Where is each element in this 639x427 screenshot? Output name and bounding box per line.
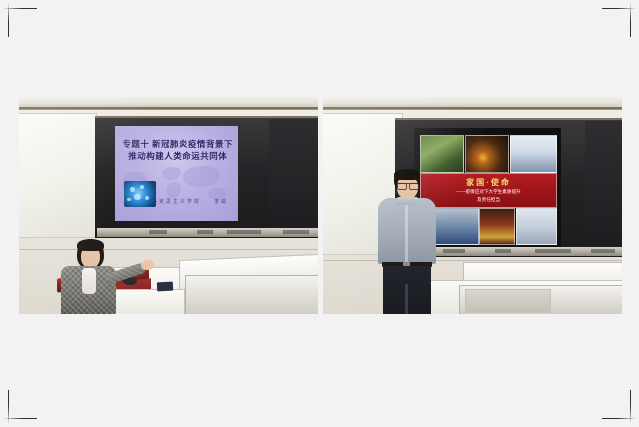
screenshot-canvas: 专题十 新冠肺炎疫情背景下 推动构建人类命运共同体 马克思主义学院 李娟 [0,0,639,427]
lecturer-hair-fringe [394,169,420,180]
slide-byline: 马克思主义学院 李娟 [152,198,228,205]
slide-title-line-1: 专题十 新冠肺炎疫情背景下 [122,139,233,150]
shirt-placket [405,202,408,262]
glasses-right-lens [409,183,419,190]
crop-mark-top-left-horizontal [3,8,37,9]
crop-mark-bottom-left-horizontal [3,418,37,419]
whiteboard [19,113,97,238]
crop-mark-top-right-horizontal [602,8,636,9]
crop-mark-top-left-vertical [8,3,9,37]
podium-drawer [465,289,551,313]
shirt-collar [397,197,418,205]
slide-red-banner: 家国·使命 ——疫情应对下大学生素质提升 及责任担当 [420,173,557,207]
slide-title: 专题十 新冠肺炎疫情背景下 推动构建人类命运共同体 [122,139,233,162]
projection-screen: 专题十 新冠肺炎疫情背景下 推动构建人类命运共同体 马克思主义学院 李娟 [115,126,238,221]
crop-mark-top-right-vertical [630,3,631,37]
smartphone-on-desk [157,282,173,292]
display-lower-rail [97,228,318,237]
slide-title-line-2: 推动构建人类命运共同体 [122,151,233,162]
female-lecturer [55,240,141,314]
collage-cell-medical-workers [510,135,557,172]
display-housing-side-panel [269,119,318,233]
crop-mark-bottom-left-vertical [8,390,9,424]
banner-subtitle-line-2: 及责任担当 [477,197,500,204]
collage-cell-hospital [516,208,557,244]
collage-cell-emergency-vehicle [479,208,515,244]
right-photo: 家国·使命 ——疫情应对下大学生素质提升 及责任担当 [323,97,622,314]
ceiling [19,97,318,107]
trouser-gap [405,284,408,314]
coronavirus-illustration [124,181,156,207]
podium-cabinet [185,275,318,314]
lecturer-inner-top [82,268,96,294]
banner-subtitle-line-1: ——疫情应对下大学生素质提升 [456,189,520,196]
left-photo: 专题十 新冠肺炎疫情背景下 推动构建人类命运共同体 马克思主义学院 李娟 [19,97,318,314]
slide-byline-department: 马克思主义学院 [152,200,201,205]
glasses-left-lens [397,183,407,190]
crop-mark-bottom-right-horizontal [602,418,636,419]
lecturer-hair-front [77,239,104,251]
crop-mark-bottom-right-vertical [630,390,631,424]
banner-title: 家国·使命 [466,177,511,188]
wall-seam [323,260,622,261]
collage-cell-night-city [465,135,509,172]
ceiling [323,97,622,107]
male-lecturer [376,169,440,314]
slide-byline-name: 李娟 [214,200,228,205]
display-housing-side-panel [585,121,622,252]
collage-cell-outdoors [420,135,464,172]
slide-photo-collage: 家国·使命 ——疫情应对下大学生素质提升 及责任担当 [420,135,555,242]
